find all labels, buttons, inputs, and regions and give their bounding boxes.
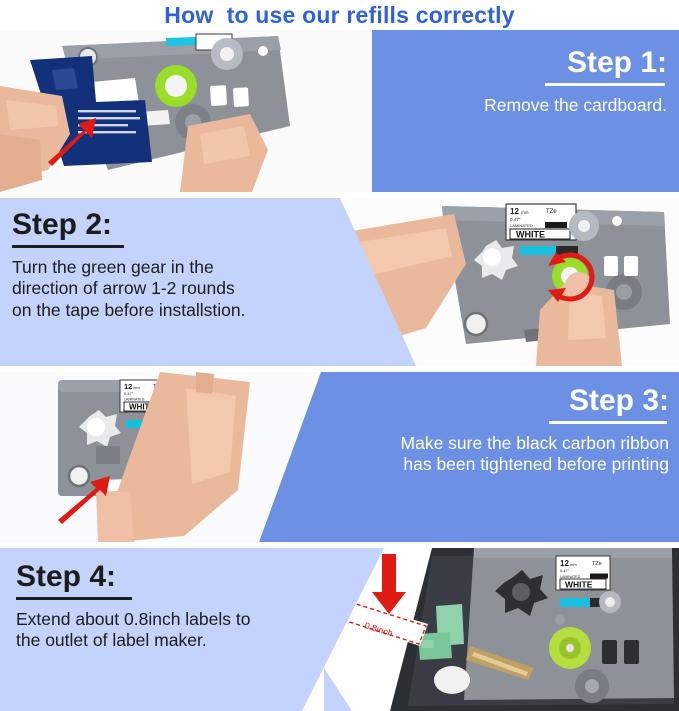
svg-text:0.47": 0.47"	[510, 217, 521, 222]
svg-text:TZe: TZe	[546, 209, 557, 215]
step-3-body: Make sure the black carbon ribbon has be…	[259, 433, 669, 476]
step-panel-1: Step 1: Remove the cardboard.	[0, 30, 679, 192]
svg-text:0.47": 0.47"	[124, 391, 134, 396]
step-4-rule	[16, 597, 132, 600]
page-title: How to use our refills correctly	[164, 2, 514, 29]
step-4-illustration: 12 mm TZe 0.47" LAMINATED WHITE	[324, 548, 679, 711]
svg-text:mm: mm	[133, 385, 140, 390]
svg-text:12: 12	[560, 559, 569, 568]
step-2-rule	[12, 245, 124, 248]
step-1-illustration	[0, 30, 400, 192]
step-1-heading: Step 1:	[386, 48, 667, 78]
svg-text:WHITE: WHITE	[516, 230, 545, 240]
step-2-body: Turn the green gear in the direction of …	[12, 257, 420, 321]
step-1-rule	[545, 83, 665, 86]
step-1-textblock: Step 1: Remove the cardboard.	[372, 30, 679, 192]
svg-text:TZe: TZe	[592, 561, 602, 567]
step-panel-2: 12 mm TZe 0.47" LAMINATED WHITE	[0, 198, 679, 366]
svg-text:WHITE: WHITE	[565, 580, 593, 590]
svg-text:mm: mm	[521, 210, 529, 215]
svg-text:LAMINATED: LAMINATED	[510, 223, 533, 228]
svg-text:12: 12	[510, 207, 519, 216]
svg-text:0.47": 0.47"	[560, 568, 570, 573]
step-1-body: Remove the cardboard.	[386, 95, 667, 116]
svg-text:LAMINATED: LAMINATED	[560, 575, 581, 579]
svg-text:12: 12	[124, 382, 132, 391]
step-1-photo	[0, 30, 400, 192]
step-4-photo: 12 mm TZe 0.47" LAMINATED WHITE	[324, 548, 679, 711]
page-title-bar: How to use our refills correctly	[0, 0, 679, 30]
step-3-heading: Step 3:	[259, 386, 669, 416]
step-3-rule	[549, 421, 667, 424]
svg-text:mm: mm	[570, 562, 577, 567]
step-panel-3: 12 mm TZe 0.47" LAMINATED WHITE	[0, 372, 679, 542]
svg-text:LAMINATED: LAMINATED	[124, 398, 145, 402]
step-3-textblock: Step 3: Make sure the black carbon ribbo…	[259, 372, 679, 542]
step-panel-4: 12 mm TZe 0.47" LAMINATED WHITE	[0, 548, 679, 711]
step-4-heading: Step 4:	[16, 562, 400, 592]
